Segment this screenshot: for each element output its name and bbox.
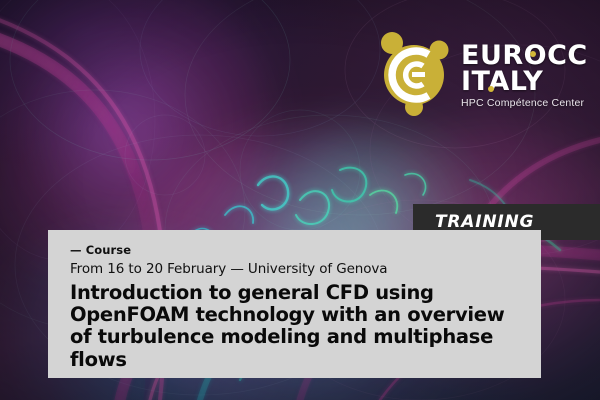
logo-wordmark: EUROCC ITALY HPC Compétence Center [461, 36, 588, 109]
logo-line-italy: ITALY [461, 68, 588, 95]
event-info-card: — Course From 16 to 20 February — Univer… [48, 230, 541, 378]
logo-gold-dot-italy [488, 86, 494, 92]
event-title: Introduction to general CFD using OpenFO… [70, 282, 518, 371]
logo-gold-dot-eurocc [530, 51, 536, 57]
logo-tagline: HPC Compétence Center [461, 98, 588, 109]
logo-line-italy-text: ITALY [461, 66, 543, 97]
training-poster: EUROCC ITALY HPC Compétence Center TRAIN… [0, 0, 600, 400]
event-category-kicker: — Course [70, 243, 521, 257]
eurocc-italy-logo: EUROCC ITALY HPC Compétence Center [376, 26, 586, 118]
eurocc-node-circle-icon [376, 28, 454, 116]
logo-line-eurocc: EUROCC [461, 42, 588, 69]
event-date-venue: From 16 to 20 February — University of G… [70, 261, 521, 277]
training-badge-label: TRAINING [435, 212, 534, 232]
